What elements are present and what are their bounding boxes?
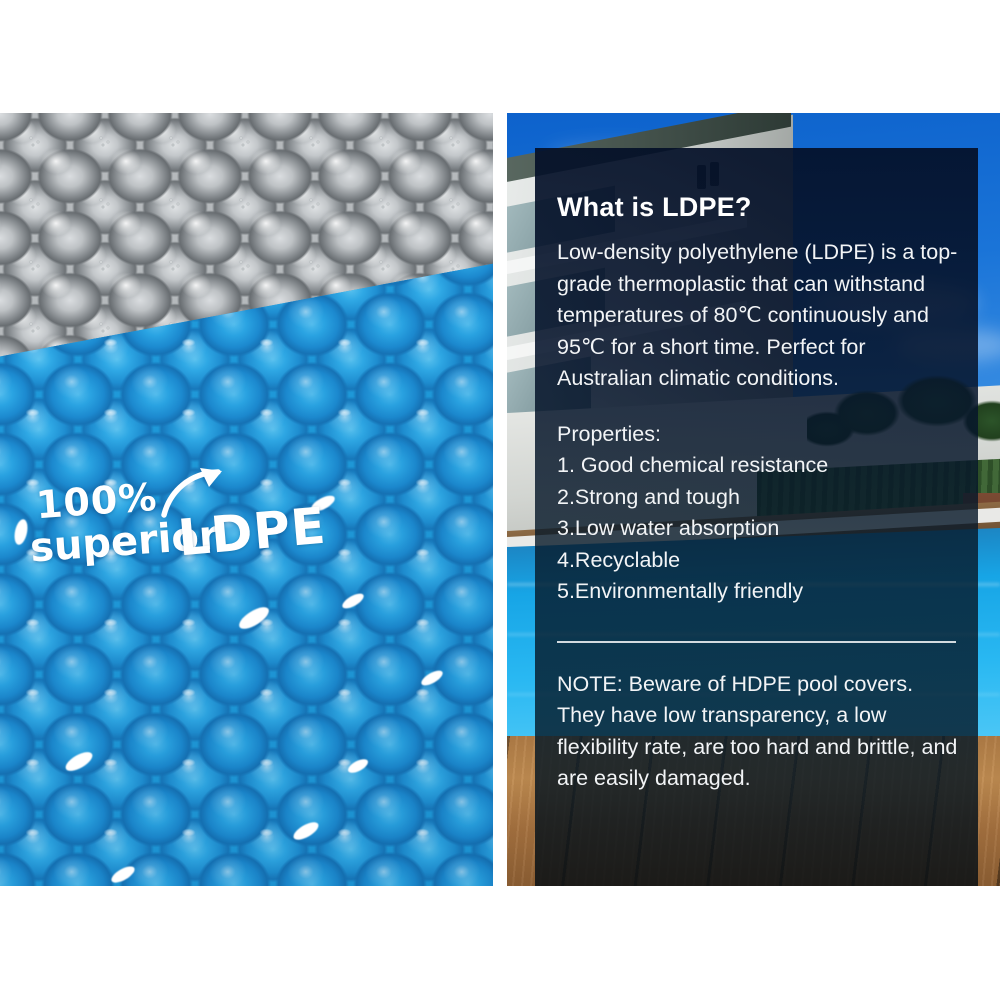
dark-text-overlay: What is LDPE? Low-density polyethylene (… — [535, 148, 978, 886]
properties-list: 1. Good chemical resistance 2.Strong and… — [557, 450, 960, 608]
list-item: 5.Environmentally friendly — [557, 576, 960, 608]
list-item: 1. Good chemical resistance — [557, 450, 960, 482]
section-divider — [557, 641, 956, 643]
poster-canvas: 100% superior LDPE What is LDPE? — [0, 0, 1000, 1000]
list-item: 3.Low water absorption — [557, 513, 960, 545]
properties-label: Properties: — [557, 419, 960, 451]
product-photo-panel: 100% superior LDPE — [0, 113, 493, 886]
info-card-panel: What is LDPE? Low-density polyethylene (… — [507, 113, 1000, 886]
card-paragraph: Low-density polyethylene (LDPE) is a top… — [557, 237, 960, 395]
card-title: What is LDPE? — [557, 192, 960, 223]
note-text: NOTE: Beware of HDPE pool covers. They h… — [557, 669, 960, 795]
list-item: 2.Strong and tough — [557, 482, 960, 514]
list-item: 4.Recyclable — [557, 545, 960, 577]
